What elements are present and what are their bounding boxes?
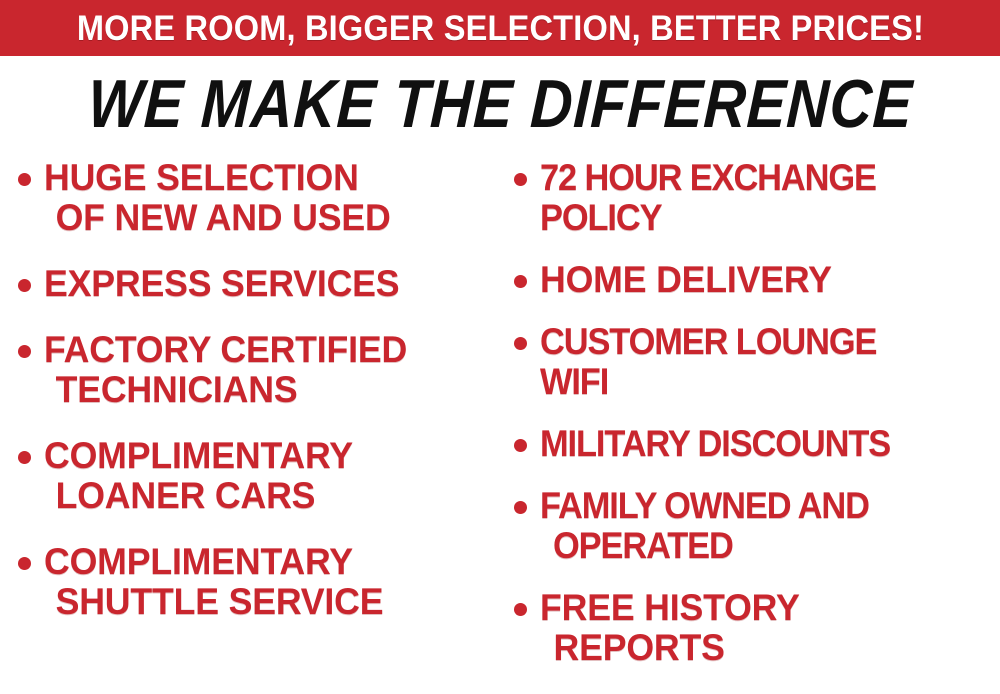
feature-line-1: EXPRESS SERVICES: [44, 263, 399, 304]
feature-item: FAMILY OWNED AND OPERATED: [514, 486, 1000, 566]
feature-text: FREE HISTORY REPORTS: [540, 588, 800, 668]
bullet-dot-icon: [514, 337, 527, 350]
feature-line-1: COMPLIMENTARY: [44, 541, 353, 582]
features-column-right: 72 HOUR EXCHANGE POLICY HOME DELIVERY CU…: [500, 158, 1000, 690]
feature-item: FREE HISTORY REPORTS: [514, 588, 1000, 668]
feature-item: FACTORY CERTIFIED TECHNICIANS: [18, 330, 498, 410]
feature-item: 72 HOUR EXCHANGE POLICY: [514, 158, 1000, 238]
headline: WE MAKE THE DIFFERENCE: [0, 70, 1000, 138]
feature-line-1: FACTORY CERTIFIED: [44, 329, 407, 370]
feature-text: CUSTOMER LOUNGE WIFI: [540, 322, 876, 402]
feature-text: FACTORY CERTIFIED TECHNICIANS: [44, 330, 407, 410]
feature-line-1: 72 HOUR EXCHANGE: [540, 157, 876, 198]
feature-line-1: MILITARY DISCOUNTS: [540, 423, 890, 464]
feature-line-2: REPORTS: [540, 628, 800, 668]
feature-line-1: FAMILY OWNED AND: [540, 485, 869, 526]
advertisement-banner: MORE ROOM, BIGGER SELECTION, BETTER PRIC…: [0, 0, 1000, 694]
feature-text: EXPRESS SERVICES: [44, 264, 399, 304]
feature-line-2: WIFI: [540, 362, 876, 402]
feature-item: CUSTOMER LOUNGE WIFI: [514, 322, 1000, 402]
feature-line-1: CUSTOMER LOUNGE: [540, 321, 876, 362]
bullet-dot-icon: [514, 439, 527, 452]
feature-text: COMPLIMENTARY SHUTTLE SERVICE: [44, 542, 383, 622]
feature-line-2: TECHNICIANS: [44, 370, 407, 410]
bullet-dot-icon: [514, 275, 527, 288]
feature-text: COMPLIMENTARY LOANER CARS: [44, 436, 353, 516]
feature-item: COMPLIMENTARY LOANER CARS: [18, 436, 498, 516]
bullet-dot-icon: [514, 501, 527, 514]
features-column-left: HUGE SELECTION OF NEW AND USED EXPRESS S…: [0, 158, 500, 648]
feature-line-1: HOME DELIVERY: [540, 259, 832, 300]
feature-text: FAMILY OWNED AND OPERATED: [540, 486, 869, 566]
feature-item: MILITARY DISCOUNTS: [514, 424, 1000, 464]
feature-line-1: COMPLIMENTARY: [44, 435, 353, 476]
headline-text: WE MAKE THE DIFFERENCE: [86, 70, 914, 138]
feature-line-1: HUGE SELECTION: [44, 157, 359, 198]
feature-line-2: LOANER CARS: [44, 476, 353, 516]
bullet-dot-icon: [18, 173, 31, 186]
top-promo-banner: MORE ROOM, BIGGER SELECTION, BETTER PRIC…: [0, 0, 1000, 56]
feature-item: HOME DELIVERY: [514, 260, 1000, 300]
feature-item: COMPLIMENTARY SHUTTLE SERVICE: [18, 542, 498, 622]
bullet-dot-icon: [18, 279, 31, 292]
feature-line-2: SHUTTLE SERVICE: [44, 582, 383, 622]
feature-text: HUGE SELECTION OF NEW AND USED: [44, 158, 391, 238]
feature-text: 72 HOUR EXCHANGE POLICY: [540, 158, 876, 238]
feature-line-1: FREE HISTORY: [540, 587, 800, 628]
bullet-dot-icon: [18, 451, 31, 464]
bullet-dot-icon: [514, 603, 527, 616]
feature-line-2: OPERATED: [540, 526, 869, 566]
feature-item: HUGE SELECTION OF NEW AND USED: [18, 158, 498, 238]
features-columns: HUGE SELECTION OF NEW AND USED EXPRESS S…: [0, 158, 1000, 694]
feature-text: HOME DELIVERY: [540, 260, 832, 300]
feature-line-2: OF NEW AND USED: [44, 198, 391, 238]
bullet-dot-icon: [18, 345, 31, 358]
bullet-dot-icon: [514, 173, 527, 186]
feature-text: MILITARY DISCOUNTS: [540, 424, 890, 464]
feature-line-2: POLICY: [540, 198, 876, 238]
feature-item: EXPRESS SERVICES: [18, 264, 498, 304]
top-promo-banner-text: MORE ROOM, BIGGER SELECTION, BETTER PRIC…: [76, 11, 923, 46]
bullet-dot-icon: [18, 557, 31, 570]
